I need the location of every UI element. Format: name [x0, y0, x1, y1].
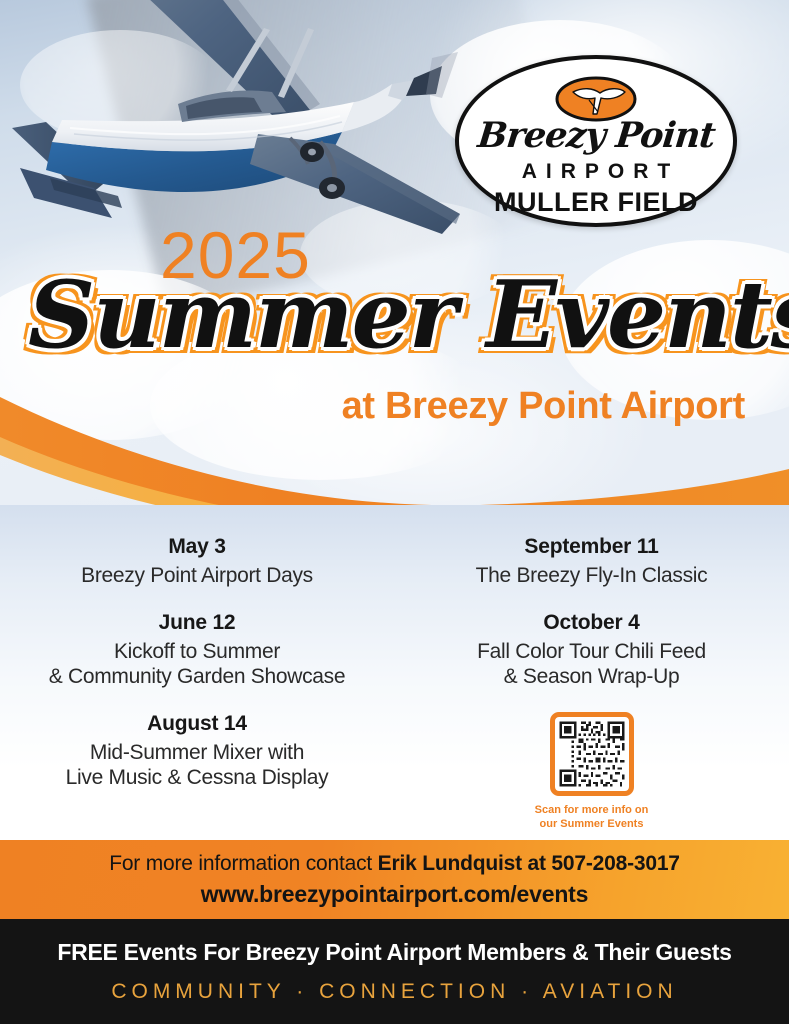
- event-description-line: Breezy Point Airport Days: [8, 563, 386, 589]
- headline-main: Summer Events: [28, 268, 788, 361]
- hero-sky-photo: Breezy Point AIRPORT MULLER FIELD 2025 S…: [0, 0, 789, 520]
- contact-info-line: For more information contact Erik Lundqu…: [109, 852, 680, 876]
- event-date: October 4: [402, 611, 781, 635]
- event-description-line: Live Music & Cessna Display: [8, 765, 386, 791]
- logo-script-name: Breezy Point: [476, 118, 716, 153]
- orange-wave-divider: [0, 393, 789, 520]
- contact-person-phone: Erik Lundquist at 507-208-3017: [378, 852, 680, 875]
- event-item: May 3 Breezy Point Airport Days: [8, 535, 386, 589]
- qr-caption-line-1: Scan for more info on: [512, 803, 672, 817]
- logo-airport-word: AIRPORT: [513, 160, 680, 184]
- events-column-right: September 11 The Breezy Fly-In Classic O…: [394, 535, 789, 831]
- qr-code-icon[interactable]: [557, 719, 627, 789]
- event-date: September 11: [402, 535, 781, 559]
- contact-website-link[interactable]: www.breezypointairport.com/events: [201, 881, 588, 908]
- event-description-line: The Breezy Fly-In Classic: [402, 563, 781, 589]
- event-item: September 11 The Breezy Fly-In Classic: [402, 535, 781, 589]
- event-item: October 4 Fall Color Tour Chili Feed & S…: [402, 611, 781, 690]
- event-description-line: Mid-Summer Mixer with: [8, 740, 386, 766]
- event-date: May 3: [8, 535, 386, 559]
- event-item: June 12 Kickoff to Summer & Community Ga…: [8, 611, 386, 690]
- contact-bar: For more information contact Erik Lundqu…: [0, 840, 789, 919]
- events-columns: May 3 Breezy Point Airport Days June 12 …: [0, 535, 789, 831]
- footer-headline: FREE Events For Breezy Point Airport Mem…: [57, 939, 731, 966]
- breezy-point-airport-logo: Breezy Point AIRPORT MULLER FIELD: [455, 55, 737, 227]
- footer-bar: FREE Events For Breezy Point Airport Mem…: [0, 919, 789, 1024]
- events-section: May 3 Breezy Point Airport Days June 12 …: [0, 505, 789, 842]
- qr-caption: Scan for more info on our Summer Events: [512, 803, 672, 832]
- contact-intro-text: For more information contact: [109, 852, 377, 875]
- event-date: June 12: [8, 611, 386, 635]
- qr-caption-line-2: our Summer Events: [512, 817, 672, 831]
- event-description-line: & Season Wrap-Up: [402, 664, 781, 690]
- qr-code-block[interactable]: Scan for more info on our Summer Events: [550, 712, 634, 832]
- footer-tag-community: COMMUNITY: [111, 980, 285, 1003]
- footer-tagline: COMMUNITY · CONNECTION · AVIATION: [111, 980, 677, 1004]
- footer-tag-connection: CONNECTION: [319, 980, 510, 1003]
- footer-separator-dot: ·: [285, 980, 319, 1003]
- event-description-line: Kickoff to Summer: [8, 639, 386, 665]
- logo-field-name: MULLER FIELD: [494, 187, 698, 218]
- footer-separator-dot: ·: [510, 980, 543, 1003]
- summer-events-poster: Breezy Point AIRPORT MULLER FIELD 2025 S…: [0, 0, 789, 1024]
- footer-tag-aviation: AVIATION: [543, 980, 678, 1003]
- event-date: August 14: [8, 712, 386, 736]
- event-description-line: & Community Garden Showcase: [8, 664, 386, 690]
- event-description-line: Fall Color Tour Chili Feed: [402, 639, 781, 665]
- qr-code-frame[interactable]: [550, 712, 634, 796]
- events-column-left: May 3 Breezy Point Airport Days June 12 …: [0, 535, 394, 831]
- event-item: August 14 Mid-Summer Mixer with Live Mus…: [8, 712, 386, 791]
